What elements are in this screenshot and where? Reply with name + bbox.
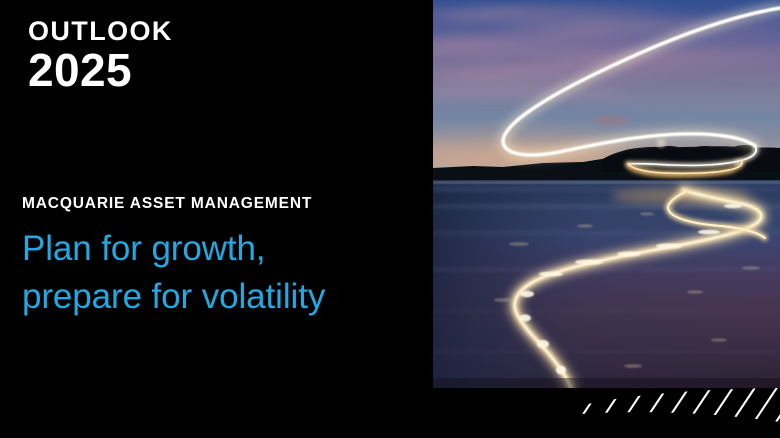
- brand-outlook-label: OUTLOOK: [28, 18, 173, 45]
- page-title: Plan for growth, prepare for volatility: [22, 225, 427, 320]
- photo-water: [433, 180, 780, 388]
- brand-year-label: 2025: [28, 47, 173, 94]
- text-panel: OUTLOOK 2025 MACQUARIE ASSET MANAGEMENT …: [0, 0, 433, 438]
- hero-photo: [433, 0, 780, 388]
- eyebrow-label: MACQUARIE ASSET MANAGEMENT: [22, 194, 427, 213]
- brand-lockup: OUTLOOK 2025: [28, 18, 173, 94]
- headline-block: MACQUARIE ASSET MANAGEMENT Plan for grow…: [22, 194, 427, 321]
- diagonal-hatch-motif: [580, 388, 780, 438]
- outlook-2025-title-slide: OUTLOOK 2025 MACQUARIE ASSET MANAGEMENT …: [0, 0, 780, 438]
